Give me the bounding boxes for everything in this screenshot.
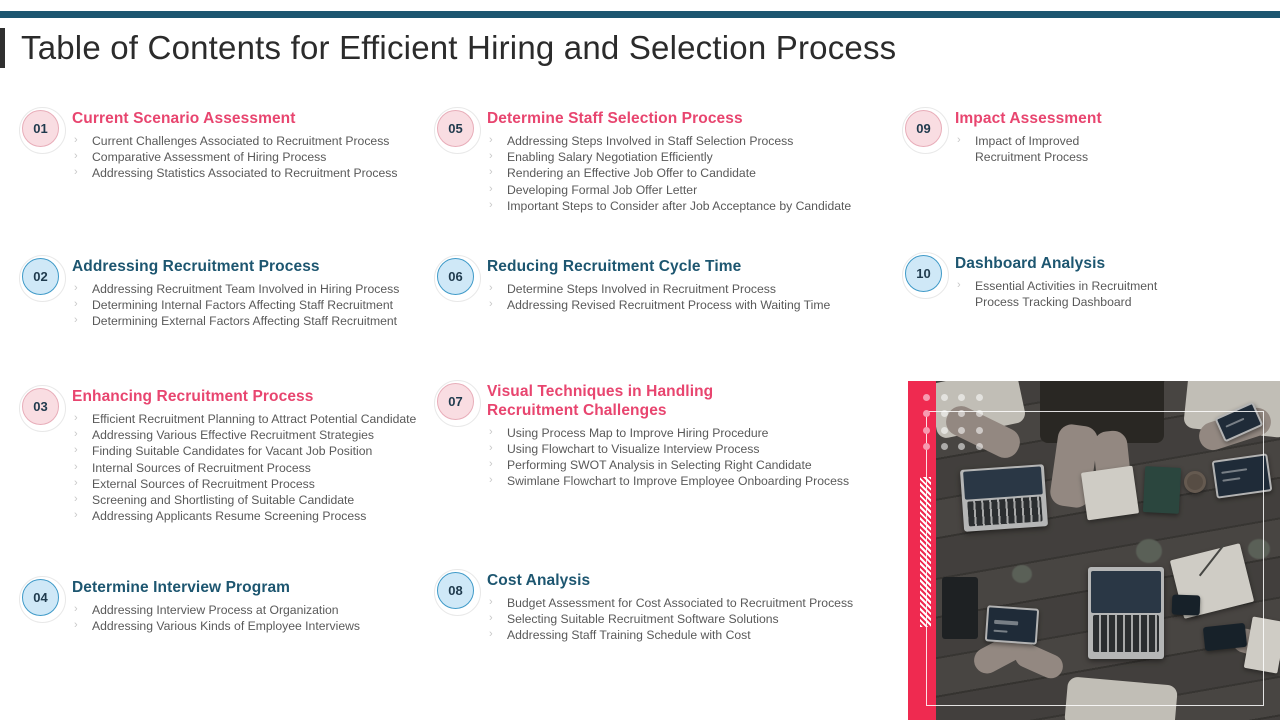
chevron-right-icon: ›	[489, 297, 493, 312]
chevron-right-icon: ›	[489, 425, 493, 440]
list-item[interactable]: ›Using Process Map to Improve Hiring Pro…	[487, 425, 892, 441]
list-item-label: Addressing Applicants Resume Screening P…	[92, 509, 366, 523]
entry-title: Addressing Recruitment Process	[72, 258, 442, 277]
entry-number-badge: 10	[905, 255, 942, 292]
list-item[interactable]: ›Addressing Revised Recruitment Process …	[487, 297, 892, 313]
dot	[976, 410, 983, 417]
entry-title: Visual Techniques in Handling Recruitmen…	[487, 383, 757, 421]
toc-entry-08[interactable]: 08 Cost Analysis ›Budget Assessment for …	[437, 572, 892, 644]
toc-entry-09[interactable]: 09 Impact Assessment ›Impact of Improved…	[905, 110, 1275, 165]
list-item-label: External Sources of Recruitment Process	[92, 477, 315, 491]
list-item[interactable]: ›Addressing Recruitment Team Involved in…	[72, 281, 442, 297]
dot	[976, 394, 983, 401]
list-item[interactable]: ›Impact of Improved Recruitment Process	[955, 133, 1140, 165]
toc-entry-03[interactable]: 03 Enhancing Recruitment Process ›Effici…	[22, 388, 432, 524]
toc-entry-05[interactable]: 05 Determine Staff Selection Process ›Ad…	[437, 110, 892, 214]
entry-title: Cost Analysis	[487, 572, 892, 591]
entry-title: Impact Assessment	[955, 110, 1275, 129]
entry-bullet-list: ›Addressing Interview Process at Organiz…	[72, 602, 432, 634]
chevron-right-icon: ›	[489, 165, 493, 180]
list-item-label: Impact of Improved Recruitment Process	[975, 134, 1088, 164]
list-item-label: Addressing Staff Training Schedule with …	[507, 628, 751, 642]
chevron-right-icon: ›	[74, 508, 78, 523]
dot	[941, 410, 948, 417]
entry-title: Reducing Recruitment Cycle Time	[487, 258, 892, 277]
chevron-right-icon: ›	[74, 313, 78, 328]
entry-number-badge: 07	[437, 383, 474, 420]
chevron-right-icon: ›	[74, 133, 78, 148]
list-item-label: Enabling Salary Negotiation Efficiently	[507, 150, 713, 164]
list-item[interactable]: ›Addressing Staff Training Schedule with…	[487, 627, 892, 643]
list-item-label: Determining Internal Factors Affecting S…	[92, 298, 393, 312]
list-item[interactable]: ›Addressing Applicants Resume Screening …	[72, 508, 432, 524]
list-item-label: Using Flowchart to Visualize Interview P…	[507, 442, 759, 456]
toc-entry-07[interactable]: 07 Visual Techniques in Handling Recruit…	[437, 383, 892, 490]
chevron-right-icon: ›	[74, 460, 78, 475]
list-item[interactable]: ›Selecting Suitable Recruitment Software…	[487, 611, 892, 627]
entry-bullet-list: ›Impact of Improved Recruitment Process	[955, 133, 1275, 165]
chevron-right-icon: ›	[489, 611, 493, 626]
list-item-label: Rendering an Effective Job Offer to Cand…	[507, 166, 756, 180]
list-item-label: Swimlane Flowchart to Improve Employee O…	[507, 474, 849, 488]
list-item[interactable]: ›Important Steps to Consider after Job A…	[487, 198, 892, 214]
list-item-label: Selecting Suitable Recruitment Software …	[507, 612, 779, 626]
list-item-label: Efficient Recruitment Planning to Attrac…	[92, 412, 416, 426]
list-item[interactable]: ›Budget Assessment for Cost Associated t…	[487, 595, 892, 611]
hatched-stripe-decoration	[920, 477, 931, 627]
list-item[interactable]: ›Finding Suitable Candidates for Vacant …	[72, 443, 432, 459]
chevron-right-icon: ›	[489, 473, 493, 488]
entry-title: Current Scenario Assessment	[72, 110, 432, 129]
toc-entry-04[interactable]: 04 Determine Interview Program ›Addressi…	[22, 579, 432, 634]
chevron-right-icon: ›	[489, 182, 493, 197]
entry-title: Determine Staff Selection Process	[487, 110, 892, 129]
entry-bullet-list: ›Current Challenges Associated to Recrui…	[72, 133, 432, 182]
list-item[interactable]: ›Rendering an Effective Job Offer to Can…	[487, 165, 892, 181]
chevron-right-icon: ›	[74, 165, 78, 180]
entry-bullet-list: ›Addressing Recruitment Team Involved in…	[72, 281, 442, 330]
page-title: Table of Contents for Efficient Hiring a…	[21, 29, 896, 67]
chevron-right-icon: ›	[74, 602, 78, 617]
list-item-label: Important Steps to Consider after Job Ac…	[507, 199, 851, 213]
dot-grid-decoration	[918, 389, 988, 455]
dot	[976, 427, 983, 434]
list-item-label: Addressing Various Effective Recruitment…	[92, 428, 374, 442]
list-item-label: Determining External Factors Affecting S…	[92, 314, 397, 328]
chevron-right-icon: ›	[489, 133, 493, 148]
dot	[958, 394, 965, 401]
list-item[interactable]: ›Addressing Various Effective Recruitmen…	[72, 427, 432, 443]
list-item[interactable]: ›Addressing Interview Process at Organiz…	[72, 602, 432, 618]
entry-bullet-list: ›Efficient Recruitment Planning to Attra…	[72, 411, 432, 525]
entry-title: Enhancing Recruitment Process	[72, 388, 432, 407]
list-item-label: Current Challenges Associated to Recruit…	[92, 134, 389, 148]
chevron-right-icon: ›	[957, 133, 961, 148]
dot	[976, 443, 983, 450]
dot	[958, 410, 965, 417]
media-block	[908, 381, 1280, 720]
toc-entry-02[interactable]: 02 Addressing Recruitment Process ›Addre…	[22, 258, 442, 330]
top-accent-bar	[0, 11, 1280, 18]
entry-bullet-list: ›Determine Steps Involved in Recruitment…	[487, 281, 892, 313]
entry-number-badge: 03	[22, 388, 59, 425]
chevron-right-icon: ›	[489, 627, 493, 642]
chevron-right-icon: ›	[74, 297, 78, 312]
chevron-right-icon: ›	[489, 281, 493, 296]
list-item-label: Addressing Recruitment Team Involved in …	[92, 282, 399, 296]
list-item[interactable]: ›Developing Formal Job Offer Letter	[487, 182, 892, 198]
dot	[958, 427, 965, 434]
chevron-right-icon: ›	[74, 492, 78, 507]
chevron-right-icon: ›	[74, 618, 78, 633]
list-item-label: Determine Steps Involved in Recruitment …	[507, 282, 776, 296]
list-item[interactable]: ›External Sources of Recruitment Process	[72, 476, 432, 492]
chevron-right-icon: ›	[74, 443, 78, 458]
title-accent-mark	[0, 28, 5, 68]
list-item-label: Addressing Statistics Associated to Recr…	[92, 166, 398, 180]
dot	[941, 443, 948, 450]
list-item[interactable]: ›Internal Sources of Recruitment Process	[72, 460, 432, 476]
chevron-right-icon: ›	[74, 476, 78, 491]
dot	[941, 427, 948, 434]
list-item[interactable]: ›Addressing Statistics Associated to Rec…	[72, 165, 432, 181]
toc-entry-10[interactable]: 10 Dashboard Analysis ›Essential Activit…	[905, 255, 1275, 310]
list-item[interactable]: ›Determining Internal Factors Affecting …	[72, 297, 442, 313]
chevron-right-icon: ›	[489, 441, 493, 456]
dot	[923, 394, 930, 401]
list-item[interactable]: ›Efficient Recruitment Planning to Attra…	[72, 411, 432, 427]
chevron-right-icon: ›	[489, 595, 493, 610]
entry-number-badge: 06	[437, 258, 474, 295]
list-item-label: Screening and Shortlisting of Suitable C…	[92, 493, 354, 507]
list-item[interactable]: ›Determine Steps Involved in Recruitment…	[487, 281, 892, 297]
list-item-label: Developing Formal Job Offer Letter	[507, 183, 697, 197]
list-item-label: Using Process Map to Improve Hiring Proc…	[507, 426, 768, 440]
list-item-label: Essential Activities in Recruitment Proc…	[975, 279, 1157, 309]
entry-title: Determine Interview Program	[72, 579, 432, 598]
list-item-label: Addressing Various Kinds of Employee Int…	[92, 619, 360, 633]
entry-number-badge: 09	[905, 110, 942, 147]
list-item[interactable]: ›Enabling Salary Negotiation Efficiently	[487, 149, 892, 165]
chevron-right-icon: ›	[74, 281, 78, 296]
entry-title: Dashboard Analysis	[955, 255, 1275, 274]
entry-number-badge: 08	[437, 572, 474, 609]
entry-number-badge: 01	[22, 110, 59, 147]
list-item-label: Comparative Assessment of Hiring Process	[92, 150, 326, 164]
list-item[interactable]: ›Comparative Assessment of Hiring Proces…	[72, 149, 432, 165]
list-item[interactable]: ›Current Challenges Associated to Recrui…	[72, 133, 432, 149]
list-item[interactable]: ›Addressing Various Kinds of Employee In…	[72, 618, 432, 634]
chevron-right-icon: ›	[74, 411, 78, 426]
list-item-label: Budget Assessment for Cost Associated to…	[507, 596, 853, 610]
toc-entry-01[interactable]: 01 Current Scenario Assessment ›Current …	[22, 110, 432, 182]
toc-entry-06[interactable]: 06 Reducing Recruitment Cycle Time ›Dete…	[437, 258, 892, 313]
chevron-right-icon: ›	[957, 278, 961, 293]
title-row: Table of Contents for Efficient Hiring a…	[0, 26, 1160, 70]
dot	[958, 443, 965, 450]
entry-bullet-list: ›Addressing Steps Involved in Staff Sele…	[487, 133, 892, 214]
chevron-right-icon: ›	[74, 427, 78, 442]
chevron-right-icon: ›	[489, 457, 493, 472]
list-item-label: Addressing Revised Recruitment Process w…	[507, 298, 830, 312]
list-item-label: Performing SWOT Analysis in Selecting Ri…	[507, 458, 812, 472]
entry-bullet-list: ›Using Process Map to Improve Hiring Pro…	[487, 425, 892, 490]
entry-number-badge: 05	[437, 110, 474, 147]
entry-number-badge: 02	[22, 258, 59, 295]
entry-number-badge: 04	[22, 579, 59, 616]
list-item-label: Finding Suitable Candidates for Vacant J…	[92, 444, 372, 458]
entry-bullet-list: ›Essential Activities in Recruitment Pro…	[955, 278, 1275, 310]
list-item[interactable]: ›Determining External Factors Affecting …	[72, 313, 442, 329]
list-item-label: Addressing Steps Involved in Staff Selec…	[507, 134, 793, 148]
dot	[941, 394, 948, 401]
list-item-label: Addressing Interview Process at Organiza…	[92, 603, 339, 617]
list-item[interactable]: ›Performing SWOT Analysis in Selecting R…	[487, 457, 892, 473]
chevron-right-icon: ›	[489, 198, 493, 213]
list-item[interactable]: ›Addressing Steps Involved in Staff Sele…	[487, 133, 892, 149]
slide-canvas: Table of Contents for Efficient Hiring a…	[0, 0, 1280, 720]
list-item[interactable]: ›Screening and Shortlisting of Suitable …	[72, 492, 432, 508]
entry-bullet-list: ›Budget Assessment for Cost Associated t…	[487, 595, 892, 644]
chevron-right-icon: ›	[74, 149, 78, 164]
list-item[interactable]: ›Swimlane Flowchart to Improve Employee …	[487, 473, 892, 489]
list-item-label: Internal Sources of Recruitment Process	[92, 461, 311, 475]
chevron-right-icon: ›	[489, 149, 493, 164]
dot	[923, 410, 930, 417]
list-item[interactable]: ›Using Flowchart to Visualize Interview …	[487, 441, 892, 457]
dot	[923, 443, 930, 450]
dot	[923, 427, 930, 434]
list-item[interactable]: ›Essential Activities in Recruitment Pro…	[955, 278, 1180, 310]
